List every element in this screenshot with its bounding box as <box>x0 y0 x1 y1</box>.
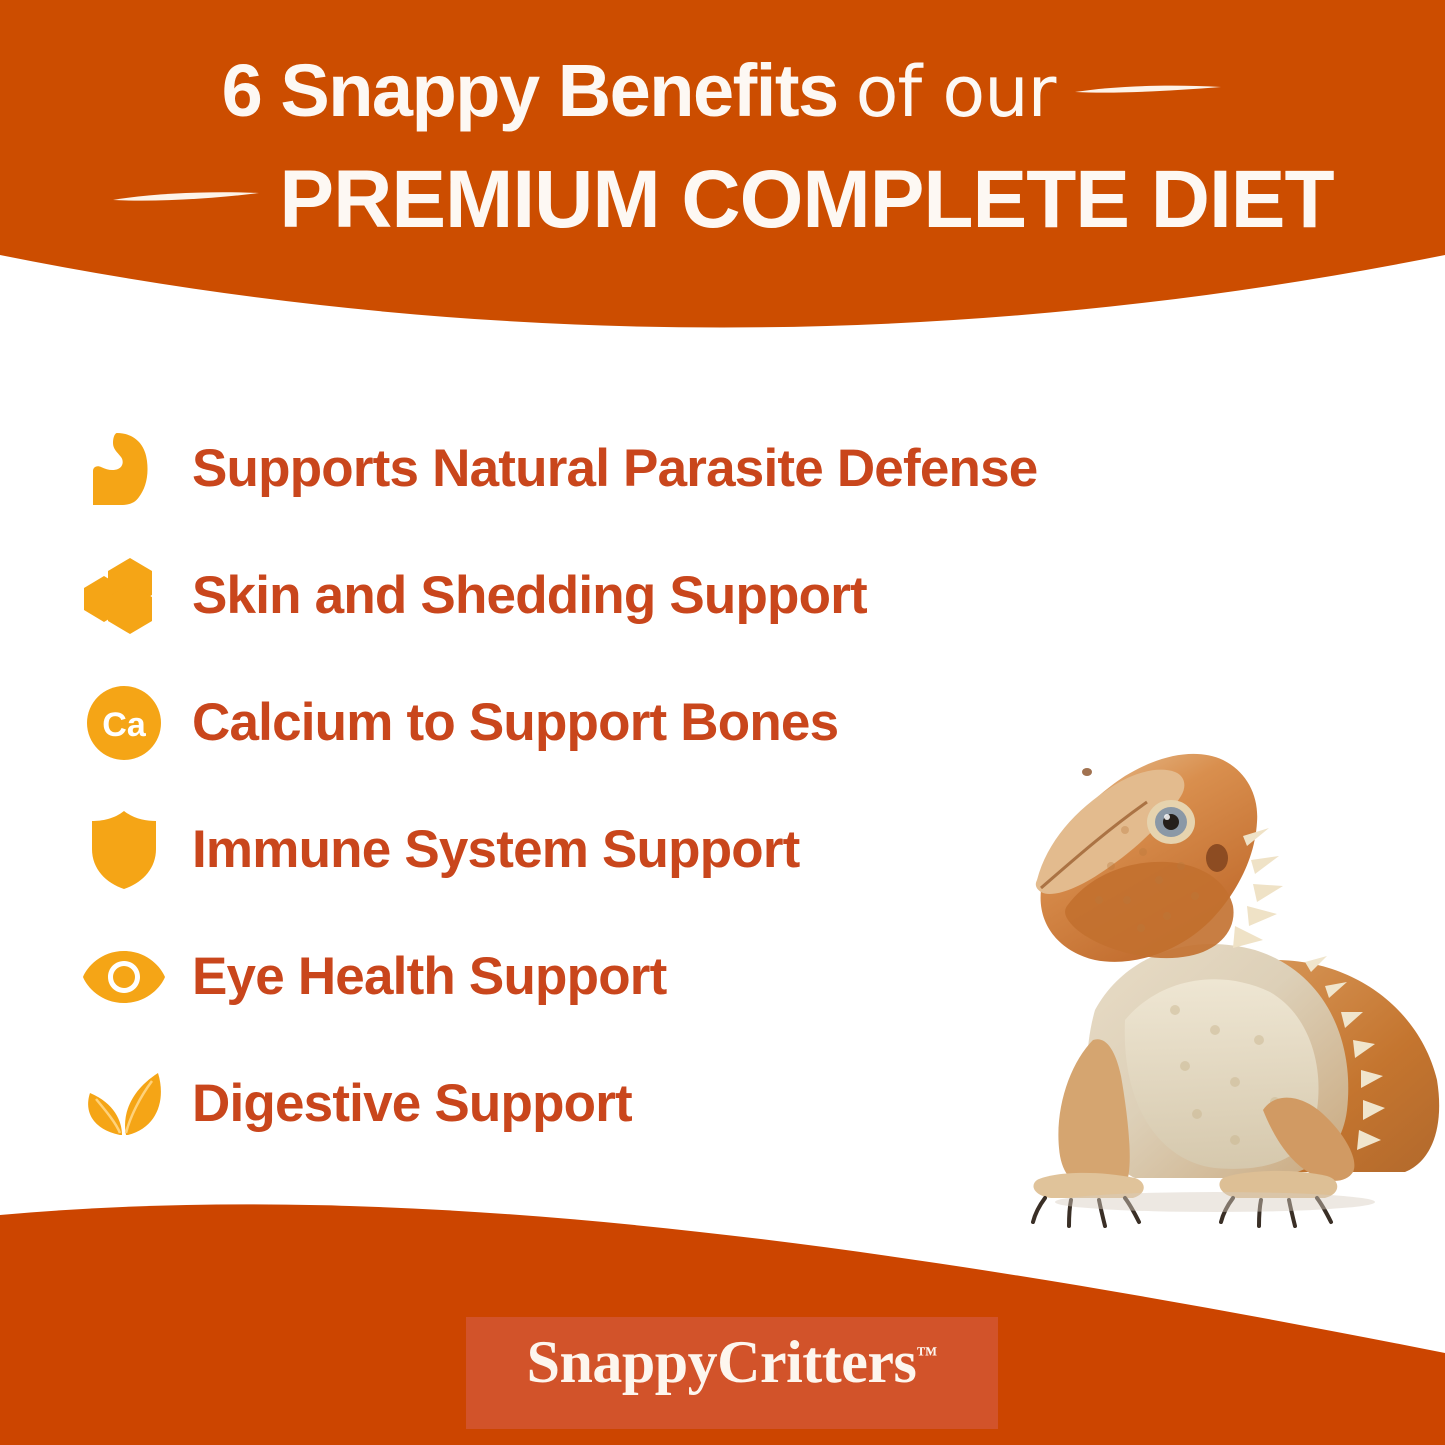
brush-stroke-left-icon <box>111 188 261 204</box>
benefit-item-parasite-defense: Supports Natural Parasite Defense <box>78 405 1208 532</box>
benefits-list: Supports Natural Parasite Defense Skin a… <box>78 405 1208 1167</box>
header-title-light: of our <box>838 51 1056 133</box>
infographic-page: 6 Snappy Benefitsof our PREMIUM COMPLETE… <box>0 0 1445 1445</box>
brand-logo-text: SnappyCritters™ <box>527 1331 938 1393</box>
benefit-item-immune-system: Immune System Support <box>78 786 1208 913</box>
svg-text:Ca: Ca <box>102 706 147 744</box>
benefit-label: Supports Natural Parasite Defense <box>192 439 1037 499</box>
benefit-label: Immune System Support <box>192 820 800 880</box>
benefit-label: Digestive Support <box>192 1074 632 1134</box>
brush-stroke-right-icon <box>1073 81 1223 97</box>
benefit-label: Skin and Shedding Support <box>192 566 867 626</box>
brand-logo: SnappyCritters™ <box>466 1317 998 1429</box>
header-title-bold: 6 Snappy Benefits <box>222 49 838 132</box>
benefit-item-eye-health: Eye Health Support <box>78 913 1208 1040</box>
benefit-label: Eye Health Support <box>192 947 666 1007</box>
header-title-line-1: 6 Snappy Benefitsof our <box>0 48 1445 135</box>
header-subtitle: PREMIUM COMPLETE DIET <box>279 154 1333 245</box>
benefit-item-skin-shedding: Skin and Shedding Support <box>78 532 1208 659</box>
benefit-item-calcium-bones: Ca Calcium to Support Bones <box>78 659 1208 786</box>
header-title-line-2: PREMIUM COMPLETE DIET <box>0 152 1445 248</box>
header-banner: 6 Snappy Benefitsof our PREMIUM COMPLETE… <box>0 0 1445 360</box>
benefit-item-digestive: Digestive Support <box>78 1040 1208 1167</box>
calcium-badge-icon: Ca <box>78 680 170 766</box>
benefit-label: Calcium to Support Bones <box>192 693 838 753</box>
leaf-sprout-icon <box>78 1061 170 1147</box>
muscle-arm-icon <box>78 426 170 512</box>
eye-icon <box>78 934 170 1020</box>
honeycomb-icon <box>78 553 170 639</box>
brand-name: SnappyCritters <box>527 1329 917 1395</box>
header-text-block: 6 Snappy Benefitsof our PREMIUM COMPLETE… <box>0 0 1445 270</box>
shield-icon <box>78 807 170 893</box>
trademark-symbol: ™ <box>916 1342 937 1366</box>
